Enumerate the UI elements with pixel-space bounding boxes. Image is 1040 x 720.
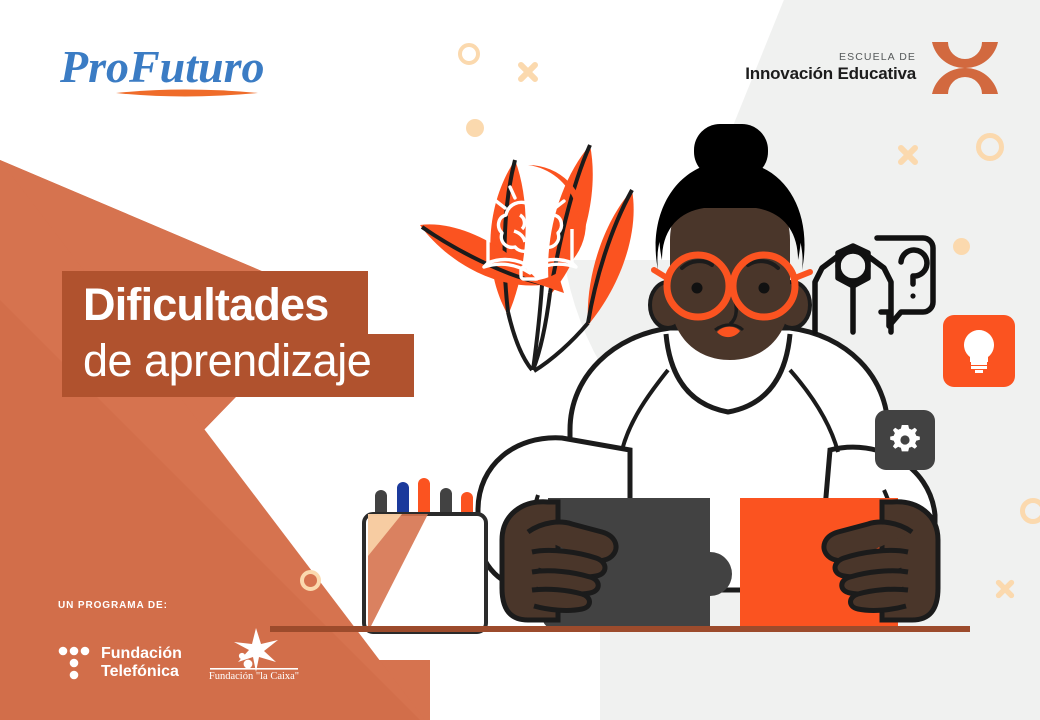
escuela-name: Innovación Educativa [745,65,916,84]
escuela-innovacion-logo: ESCUELA DE Innovación Educativa [745,40,1000,96]
profuturo-logo: ProFuturo ProFuturo [58,38,288,108]
telefonica-line-2: Telefónica [101,663,182,680]
escuela-kicker: ESCUELA DE [745,52,916,64]
telefonica-dots-icon [58,646,92,680]
decoration-ring-2 [976,133,1004,161]
footer-kicker: UN PROGRAMA DE: [58,600,304,611]
decoration-ring-3 [1020,498,1040,524]
fundacion-telefonica-logo: Fundación Telefónica [58,645,182,680]
slide-canvas: ProFuturo ProFuturo ESCUELA DE Innovació… [0,0,1040,720]
student-head [650,124,810,360]
svg-text:ProFuturo: ProFuturo [59,41,265,92]
caixa-star-icon [234,628,278,672]
footer-logos: Fundación Telefónica Fundación "la Caixa… [58,626,304,680]
telefonica-wordmark: Fundación Telefónica [101,645,182,680]
student-illustration [270,120,970,650]
gear-icon [875,410,935,470]
confused-person-question-icon [805,220,940,335]
decoration-cross-3 [994,578,1016,600]
decoration-cross-1 [516,60,540,84]
svg-text:Fundación "la Caixa": Fundación "la Caixa" [209,671,299,680]
fundacion-la-caixa-logo: Fundación "la Caixa" Fundación "la Caixa… [204,626,304,680]
brain-book-speech-bubble-icon [468,163,593,293]
escuela-logo-text: ESCUELA DE Innovación Educativa [745,52,916,84]
decoration-ring-1 [458,43,480,65]
telefonica-line-1: Fundación [101,645,182,662]
footer: UN PROGRAMA DE: Fundación Telefónica [58,600,304,680]
lightbulb-icon [943,315,1015,387]
desk-line [270,626,970,632]
pencil-cup [364,478,486,632]
x-mark-icon [930,40,1000,96]
